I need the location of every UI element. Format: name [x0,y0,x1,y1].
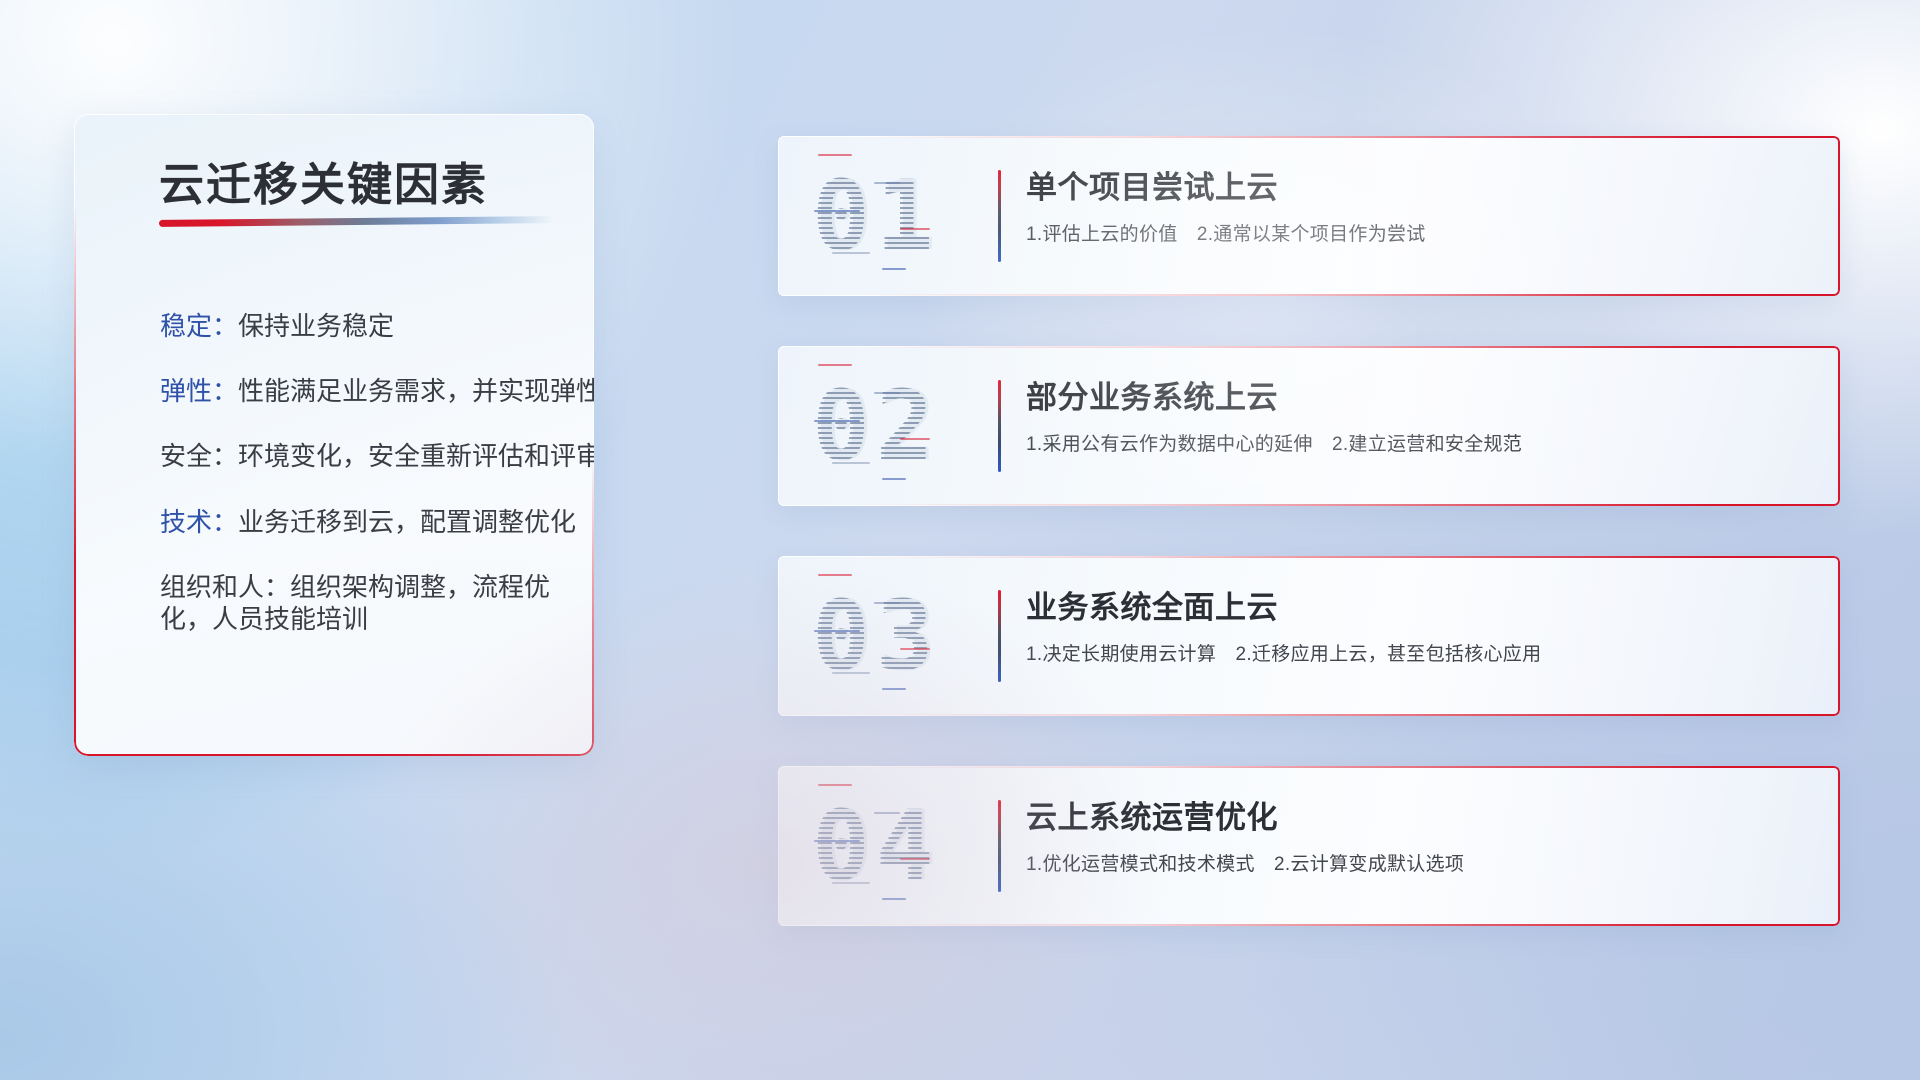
number-glitch-tick [814,840,860,842]
step-body: 单个项目尝试上云 1.评估上云的价值 2.通常以某个项目作为尝试 [1026,162,1814,246]
factor-key: 组织和人： [160,572,290,602]
factor-row: 弹性：性能满足业务需求，并实现弹性 [160,375,580,407]
step-body: 部分业务系统上云 1.采用公有云作为数据中心的延伸 2.建立运营和安全规范 [1026,372,1814,456]
number-glitch-tick [882,898,906,900]
factor-value: 性能满足业务需求，并实现弹性 [238,376,594,406]
step-accent-bar [998,380,1001,472]
key-factors-panel: 云迁移关键因素 稳定：保持业务稳定 弹性：性能满足业务需求，并实现弹性 安全：环… [74,114,594,756]
number-glitch-tick [832,672,870,674]
slide-canvas: 云迁移关键因素 稳定：保持业务稳定 弹性：性能满足业务需求，并实现弹性 安全：环… [0,0,1920,1080]
number-glitch-tick [874,812,900,814]
number-glitch-tick [882,688,906,690]
page-title: 云迁移关键因素 [159,148,488,213]
number-glitch-tick [818,574,852,576]
number-glitch-tick [818,154,852,156]
factor-key: 弹性： [160,376,238,406]
number-glitch-tick [874,182,900,184]
step-subtitle: 1.评估上云的价值 2.通常以某个项目作为尝试 [1026,219,1814,246]
step-title: 业务系统全面上云 [1026,582,1814,627]
title-gradient-rule [159,216,554,227]
number-glitch-tick [900,858,930,860]
number-glitch-tick [832,462,870,464]
step-card[interactable]: 01 01 单个项目尝试上云 1.评估上云的价值 2.通常以某个项目作为尝试 [778,136,1840,296]
step-subtitle: 1.决定长期使用云计算 2.迁移应用上云，甚至包括核心应用 [1026,639,1814,666]
factor-key: 稳定： [160,311,238,341]
factor-row: 技术：业务迁移到云，配置调整优化 [160,506,580,538]
step-card[interactable]: 03 03 业务系统全面上云 1.决定长期使用云计算 2.迁移应用上云，甚至包括… [778,556,1840,716]
factor-value: 环境变化，安全重新评估和评审 [238,441,594,471]
factor-row: 稳定：保持业务稳定 [160,310,580,342]
step-card[interactable]: 02 02 部分业务系统上云 1.采用公有云作为数据中心的延伸 2.建立运营和安… [778,346,1840,506]
step-subtitle: 1.优化运营模式和技术模式 2.云计算变成默认选项 [1026,849,1814,876]
number-glitch-tick [882,268,906,270]
number-glitch-tick [832,252,870,254]
factor-row: 组织和人：组织架构调整，流程优化，人员技能培训 [160,571,580,635]
step-title: 单个项目尝试上云 [1026,162,1814,207]
number-glitch-tick [814,630,860,632]
factor-value: 保持业务稳定 [238,311,394,341]
number-glitch-tick [832,882,870,884]
step-accent-bar [998,800,1001,892]
factor-row: 安全：环境变化，安全重新评估和评审 [160,440,580,472]
step-card[interactable]: 04 04 云上系统运营优化 1.优化运营模式和技术模式 2.云计算变成默认选项 [778,766,1840,926]
factor-list: 稳定：保持业务稳定 弹性：性能满足业务需求，并实现弹性 安全：环境变化，安全重新… [160,310,580,668]
factor-key: 安全： [160,441,238,471]
number-glitch-tick [818,364,852,366]
step-body: 业务系统全面上云 1.决定长期使用云计算 2.迁移应用上云，甚至包括核心应用 [1026,582,1814,666]
factor-key: 技术： [160,507,238,537]
number-glitch-tick [874,602,900,604]
step-accent-bar [998,170,1001,262]
step-title: 部分业务系统上云 [1026,372,1814,417]
number-glitch-tick [882,478,906,480]
step-subtitle: 1.采用公有云作为数据中心的延伸 2.建立运营和安全规范 [1026,429,1814,456]
number-glitch-tick [874,392,900,394]
migration-steps-list: 01 01 单个项目尝试上云 1.评估上云的价值 2.通常以某个项目作为尝试 0… [778,136,1840,976]
number-glitch-tick [814,420,860,422]
factor-value: 业务迁移到云，配置调整优化 [238,507,576,537]
step-title: 云上系统运营优化 [1026,792,1814,837]
number-glitch-tick [818,784,852,786]
number-glitch-tick [900,228,930,230]
number-glitch-tick [900,438,930,440]
step-accent-bar [998,590,1001,682]
number-glitch-tick [814,210,860,212]
step-body: 云上系统运营优化 1.优化运营模式和技术模式 2.云计算变成默认选项 [1026,792,1814,876]
number-glitch-tick [900,648,930,650]
